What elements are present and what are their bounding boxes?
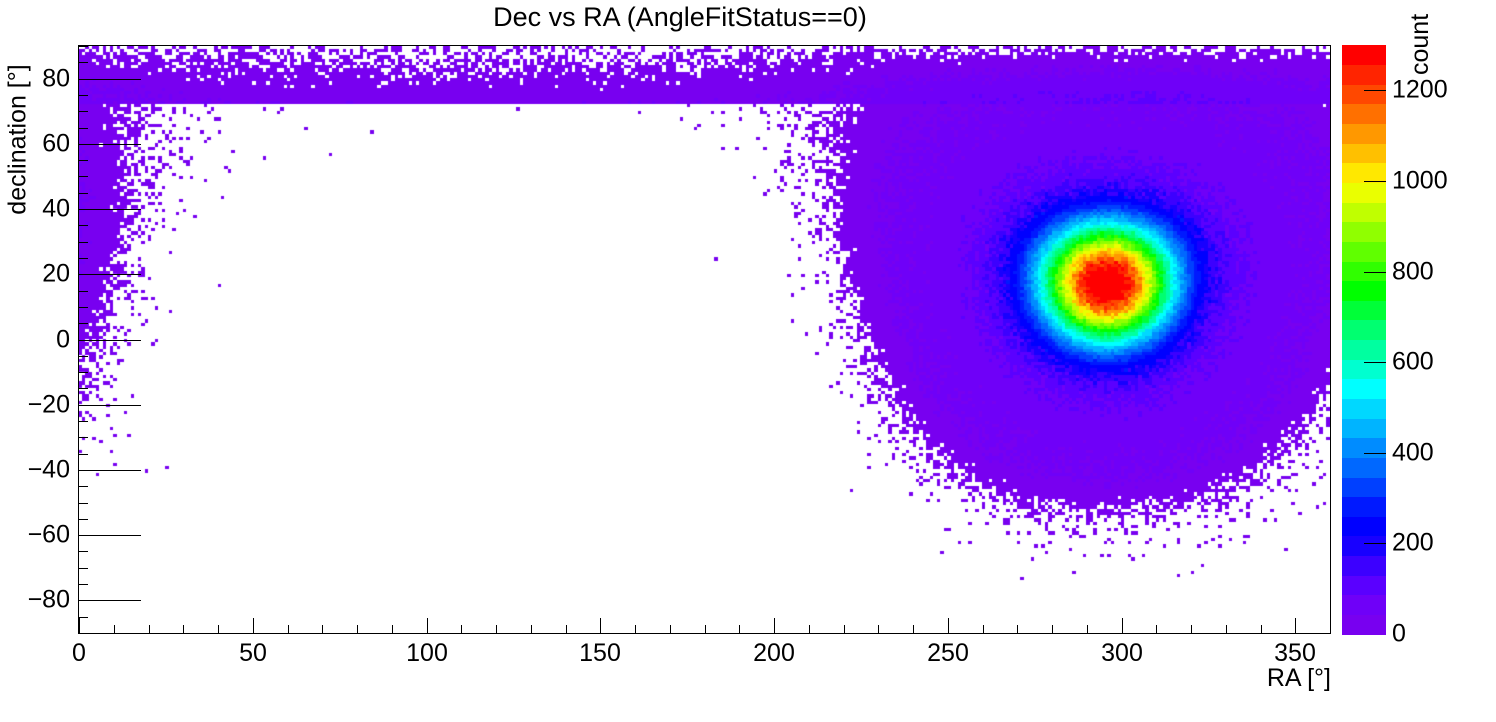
color-bar-tick-label: 800 (1392, 258, 1434, 287)
y-minor-tick (79, 62, 88, 63)
y-major-tick (79, 535, 141, 536)
y-minor-tick (79, 584, 88, 585)
y-minor-tick (79, 46, 88, 47)
y-tick-label: −20 (0, 391, 70, 420)
color-bar-band (1342, 202, 1386, 222)
color-bar (1342, 45, 1386, 634)
y-minor-tick (79, 323, 88, 324)
color-bar-band (1342, 398, 1386, 418)
y-minor-tick (79, 617, 88, 618)
y-major-tick (79, 600, 141, 601)
color-bar-tick-label: 400 (1392, 439, 1434, 468)
color-bar-band (1342, 163, 1386, 183)
color-bar-tick (1364, 543, 1386, 544)
y-tick-label: 20 (0, 260, 70, 289)
y-minor-tick (79, 193, 88, 194)
x-tick-label: 250 (927, 639, 969, 668)
color-bar-band (1342, 182, 1386, 202)
y-major-tick (79, 79, 141, 80)
x-major-tick (253, 618, 254, 633)
y-tick-label: −40 (0, 456, 70, 485)
y-minor-tick (79, 388, 88, 389)
x-major-tick (1122, 618, 1123, 633)
color-bar-band (1342, 320, 1386, 340)
y-minor-tick (79, 291, 88, 292)
x-tick-label: 0 (72, 639, 86, 668)
color-bar-tick-label: 1000 (1392, 167, 1448, 196)
x-minor-tick (705, 625, 706, 633)
x-minor-tick (149, 625, 150, 633)
x-major-tick (427, 618, 428, 633)
x-minor-tick (670, 625, 671, 633)
y-minor-tick (79, 160, 88, 161)
x-minor-tick (392, 625, 393, 633)
x-minor-tick (114, 625, 115, 633)
x-minor-tick (983, 625, 984, 633)
color-bar-band (1342, 614, 1386, 634)
color-bar-band (1342, 379, 1386, 399)
y-minor-tick (79, 128, 88, 129)
color-bar-tick-label: 0 (1392, 620, 1406, 649)
color-bar-band (1342, 124, 1386, 144)
x-minor-tick (1330, 625, 1331, 633)
y-major-tick (79, 405, 141, 406)
color-bar-tick (1364, 272, 1386, 273)
x-minor-tick (739, 625, 740, 633)
color-bar-band (1342, 477, 1386, 497)
color-bar-band (1342, 418, 1386, 438)
x-minor-tick (809, 625, 810, 633)
x-minor-tick (1191, 625, 1192, 633)
y-minor-tick (79, 258, 88, 259)
plot-frame (78, 45, 1331, 634)
x-major-tick (600, 618, 601, 633)
x-minor-tick (1052, 625, 1053, 633)
color-bar-band (1342, 595, 1386, 615)
y-axis-title: declination [°] (4, 60, 33, 220)
color-bar-tick (1364, 90, 1386, 91)
y-minor-tick (79, 356, 88, 357)
x-minor-tick (566, 625, 567, 633)
chart-title: Dec vs RA (AngleFitStatus==0) (0, 2, 1360, 33)
color-bar-band (1342, 575, 1386, 595)
x-minor-tick (183, 625, 184, 633)
x-minor-tick (288, 625, 289, 633)
x-minor-tick (357, 625, 358, 633)
heatmap-surface (79, 46, 1330, 633)
y-minor-tick (79, 437, 88, 438)
y-major-tick (79, 470, 141, 471)
x-minor-tick (218, 625, 219, 633)
y-minor-tick (79, 242, 88, 243)
y-tick-label: 0 (0, 326, 70, 355)
color-bar-title: count (1406, 0, 1435, 75)
y-tick-label: −60 (0, 521, 70, 550)
x-minor-tick (1261, 625, 1262, 633)
y-minor-tick (79, 633, 88, 634)
y-minor-tick (79, 486, 88, 487)
x-major-tick (774, 618, 775, 633)
x-minor-tick (913, 625, 914, 633)
y-minor-tick (79, 111, 88, 112)
y-minor-tick (79, 307, 88, 308)
x-major-tick (79, 618, 80, 633)
y-minor-tick (79, 421, 88, 422)
x-major-tick (948, 618, 949, 633)
color-bar-band (1342, 104, 1386, 124)
x-tick-label: 100 (406, 639, 448, 668)
color-bar-band (1342, 65, 1386, 85)
x-major-tick (1295, 618, 1296, 633)
chart-canvas: Dec vs RA (AngleFitStatus==0) 0501001502… (0, 0, 1496, 722)
color-bar-band (1342, 281, 1386, 301)
x-minor-tick (496, 625, 497, 633)
color-bar-tick (1364, 181, 1386, 182)
color-bar-band (1342, 457, 1386, 477)
y-minor-tick (79, 372, 88, 373)
color-bar-band (1342, 84, 1386, 104)
color-bar-band (1342, 536, 1386, 556)
y-minor-tick (79, 176, 88, 177)
color-bar-band (1342, 497, 1386, 517)
color-bar-tick (1364, 453, 1386, 454)
color-bar-band (1342, 516, 1386, 536)
y-minor-tick (79, 568, 88, 569)
y-minor-tick (79, 95, 88, 96)
x-minor-tick (1226, 625, 1227, 633)
x-tick-label: 50 (239, 639, 267, 668)
x-tick-label: 200 (753, 639, 795, 668)
color-bar-band (1342, 300, 1386, 320)
y-tick-label: −80 (0, 586, 70, 615)
color-bar-tick (1364, 362, 1386, 363)
color-bar-band (1342, 143, 1386, 163)
color-bar-tick-label: 600 (1392, 348, 1434, 377)
y-minor-tick (79, 503, 88, 504)
color-bar-tick-label: 200 (1392, 529, 1434, 558)
x-tick-label: 150 (579, 639, 621, 668)
x-minor-tick (635, 625, 636, 633)
color-bar-band (1342, 222, 1386, 242)
x-tick-label: 300 (1101, 639, 1143, 668)
y-minor-tick (79, 519, 88, 520)
y-minor-tick (79, 454, 88, 455)
x-minor-tick (1017, 625, 1018, 633)
color-bar-band (1342, 241, 1386, 261)
y-minor-tick (79, 551, 88, 552)
x-minor-tick (844, 625, 845, 633)
x-axis-title: RA [°] (1267, 664, 1331, 693)
color-bar-band (1342, 438, 1386, 458)
y-major-tick (79, 340, 141, 341)
x-minor-tick (322, 625, 323, 633)
x-minor-tick (878, 625, 879, 633)
x-minor-tick (531, 625, 532, 633)
color-bar-band (1342, 555, 1386, 575)
color-bar-band (1342, 340, 1386, 360)
color-bar-tick-label: 1200 (1392, 76, 1448, 105)
color-bar-band (1342, 45, 1386, 65)
x-minor-tick (1087, 625, 1088, 633)
x-minor-tick (461, 625, 462, 633)
y-major-tick (79, 144, 141, 145)
y-minor-tick (79, 225, 88, 226)
y-major-tick (79, 274, 141, 275)
x-minor-tick (1156, 625, 1157, 633)
y-major-tick (79, 209, 141, 210)
